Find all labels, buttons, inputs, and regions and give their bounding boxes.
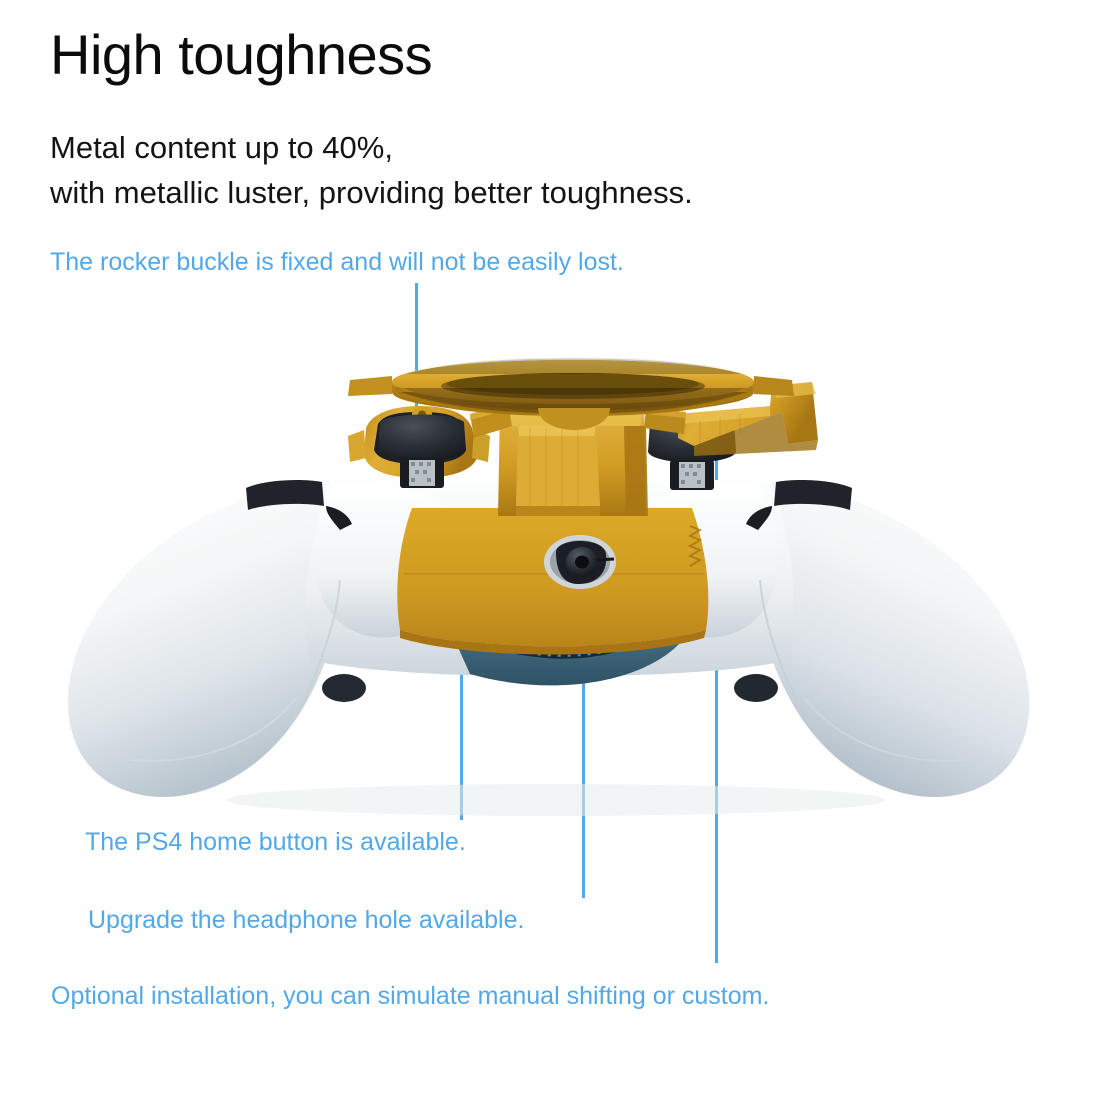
gold-base-cradle: [397, 508, 708, 655]
callout-label-rocker-buckle: The rocker buckle is fixed and will not …: [50, 250, 624, 275]
subtitle-line-2: with metallic luster, providing better t…: [50, 171, 693, 216]
page-title: High toughness: [50, 24, 432, 86]
infographic-page: High toughness Metal content up to 40%, …: [0, 0, 1100, 1100]
callout-label-headphone-hole: Upgrade the headphone hole available.: [88, 908, 524, 933]
headphone-jack: [544, 535, 616, 589]
callout-label-optional-install: Optional installation, you can simulate …: [51, 984, 769, 1009]
left-analog-stick: [378, 415, 466, 489]
page-subtitle: Metal content up to 40%, with metallic l…: [50, 126, 693, 216]
product-photo: [0, 330, 1100, 850]
subtitle-line-1: Metal content up to 40%,: [50, 126, 693, 171]
